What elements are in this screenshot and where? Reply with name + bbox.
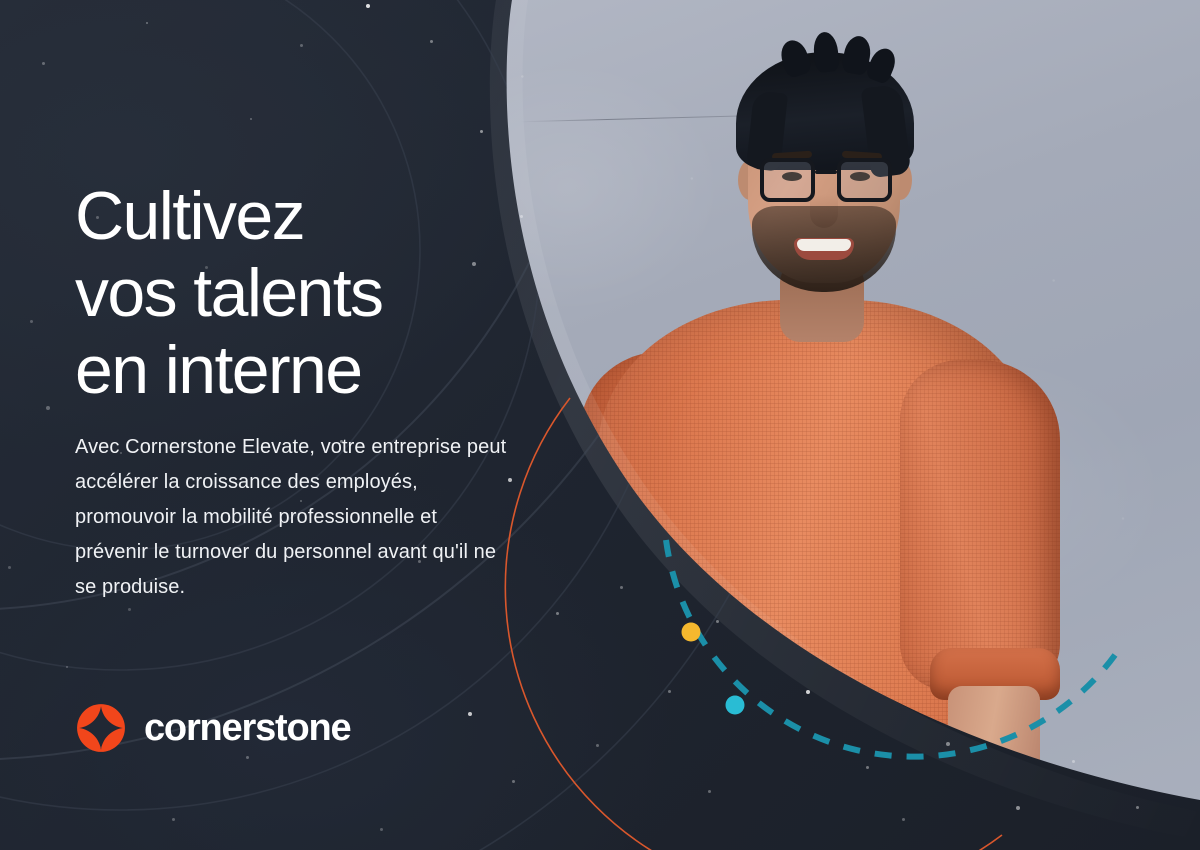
content-column: Cultivez vos talents en interne Avec Cor… [75, 0, 535, 850]
lens-right [837, 158, 892, 202]
body-paragraph: Avec Cornerstone Elevate, votre entrepri… [75, 430, 515, 605]
marketing-banner: Cultivez vos talents en interne Avec Cor… [0, 0, 1200, 850]
lens-left [760, 158, 815, 202]
headline-line-3: en interne [75, 332, 545, 409]
cornerstone-logo-lockup[interactable]: cornerstone [75, 702, 350, 754]
teeth [797, 239, 851, 251]
page-title: Cultivez vos talents en interne [75, 178, 545, 409]
hair-spike [812, 31, 840, 73]
glasses-bridge [815, 170, 837, 174]
headline-line-2: vos talents [75, 255, 545, 332]
right-arm-sleeve [900, 360, 1060, 690]
headline-line-1: Cultivez [75, 178, 545, 255]
eyeglasses-icon [760, 158, 892, 204]
smiling-mouth [794, 238, 854, 260]
cornerstone-wordmark: cornerstone [144, 709, 350, 747]
cornerstone-star-logo-icon [75, 702, 127, 754]
